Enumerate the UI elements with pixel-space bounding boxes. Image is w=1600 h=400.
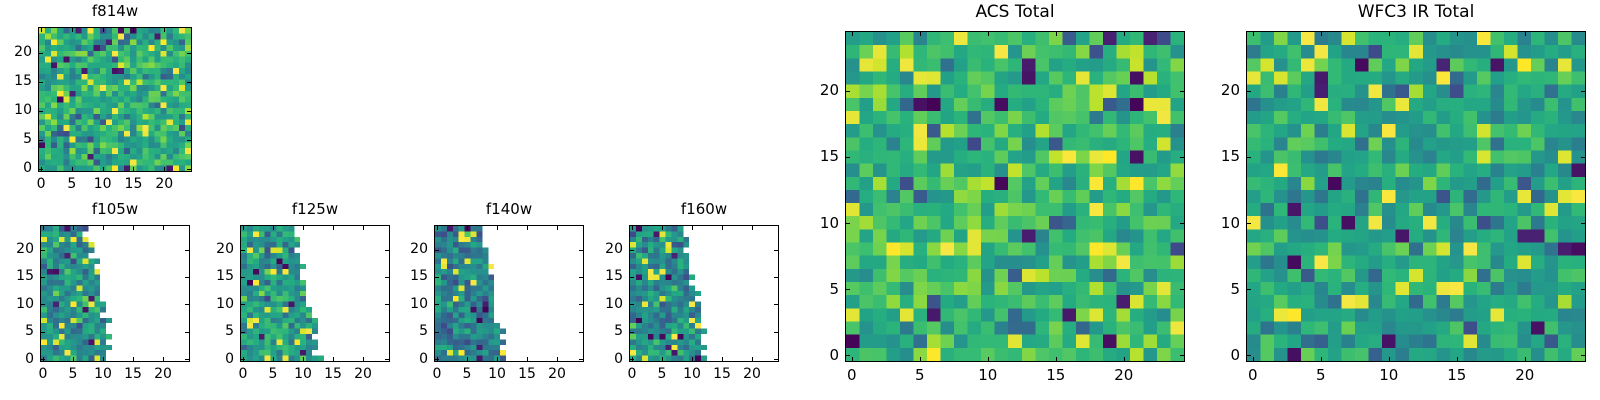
xticklabel-wfc3-ir-total-2: 10 [1359,366,1419,384]
xtick-wfc3-ir-total-4 [1525,357,1526,361]
xticklabel-wfc3-ir-total-1: 5 [1291,366,1351,384]
ytick-right-wfc3-ir-total-2 [1581,223,1585,224]
ytick-wfc3-ir-total-0 [1247,355,1251,356]
ytick-right-wfc3-ir-total-1 [1581,289,1585,290]
ytick-wfc3-ir-total-2 [1247,223,1251,224]
yticklabel-wfc3-ir-total-4: 20 [1180,81,1240,99]
xtick-wfc3-ir-total-0 [1253,357,1254,361]
panel-title-wfc3-ir-total: WFC3 IR Total [1246,2,1586,22]
ytick-right-wfc3-ir-total-3 [1581,157,1585,158]
axes-wfc3-ir-total [1246,31,1586,362]
ytick-wfc3-ir-total-4 [1247,91,1251,92]
yticklabel-wfc3-ir-total-0: 0 [1180,346,1240,364]
ytick-right-wfc3-ir-total-0 [1581,355,1585,356]
yticklabel-wfc3-ir-total-3: 15 [1180,147,1240,165]
figure-canvas: f814w0510152005101520f105w05101520051015… [0,0,1600,400]
heatmap-wfc3-ir-total [1247,32,1585,361]
yticklabel-wfc3-ir-total-1: 5 [1180,280,1240,298]
ytick-right-wfc3-ir-total-4 [1581,91,1585,92]
yticklabel-wfc3-ir-total-2: 10 [1180,214,1240,232]
xtick-top-wfc3-ir-total-4 [1525,32,1526,36]
ytick-wfc3-ir-total-3 [1247,157,1251,158]
xticklabel-wfc3-ir-total-3: 15 [1427,366,1487,384]
xticklabel-wfc3-ir-total-4: 20 [1495,366,1555,384]
xtick-wfc3-ir-total-2 [1389,357,1390,361]
xtick-top-wfc3-ir-total-2 [1389,32,1390,36]
xticklabel-wfc3-ir-total-0: 0 [1223,366,1283,384]
xtick-top-wfc3-ir-total-3 [1457,32,1458,36]
xtick-top-wfc3-ir-total-1 [1321,32,1322,36]
ytick-wfc3-ir-total-1 [1247,289,1251,290]
xtick-wfc3-ir-total-1 [1321,357,1322,361]
xtick-top-wfc3-ir-total-0 [1253,32,1254,36]
panel-wfc3-ir-total: WFC3 IR Total0510152005101520 [0,0,1600,400]
xtick-wfc3-ir-total-3 [1457,357,1458,361]
